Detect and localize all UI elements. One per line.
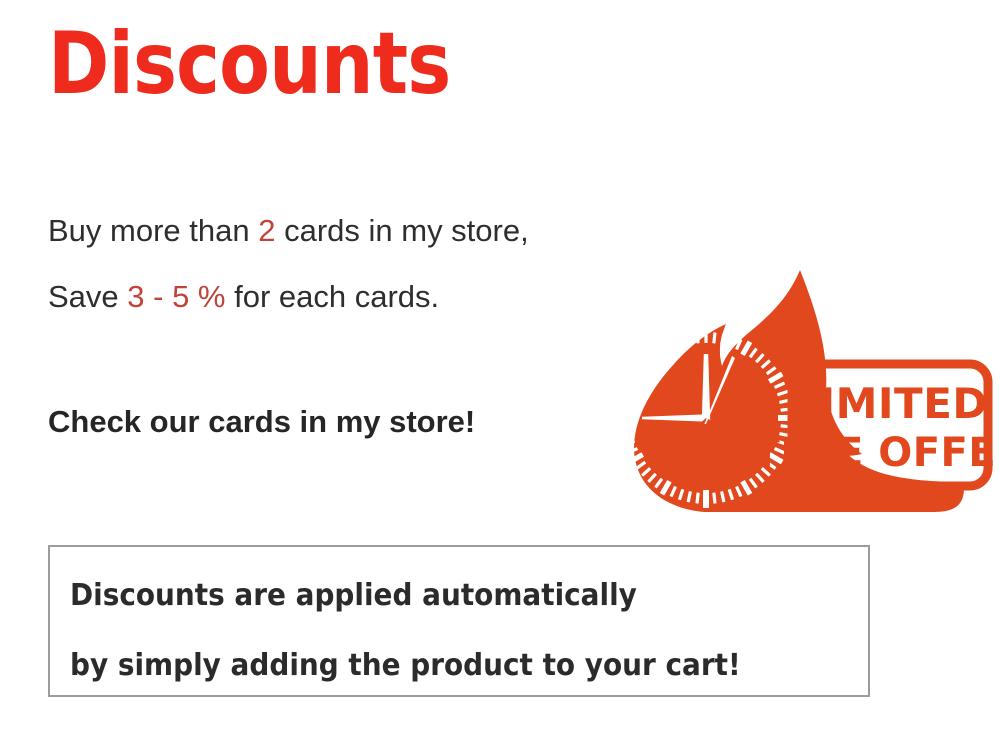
copy-line-1-before: Buy more than [48, 213, 258, 248]
badge-label-time-offer: TIME OFFER [753, 430, 997, 476]
auto-discount-note-text: Discounts are applied automatically by s… [70, 561, 858, 701]
promo-copy: Buy more than 2 cards in my store, Save … [48, 198, 668, 330]
promo-copy-line-1: Buy more than 2 cards in my store, [48, 198, 668, 264]
limited-time-offer-badge: LIMITED TIME OFFER [604, 268, 996, 514]
auto-discount-note-box: Discounts are applied automatically by s… [48, 545, 870, 697]
copy-line-1-accent: 2 [258, 213, 275, 248]
note-line-1: Discounts are applied automatically [70, 561, 803, 631]
copy-line-2-after: for each cards. [226, 279, 440, 314]
badge-label-limited: LIMITED [792, 379, 988, 428]
flame-clock-icon: LIMITED TIME OFFER [604, 268, 996, 514]
copy-line-2-before: Save [48, 279, 127, 314]
copy-line-2-accent: 3 - 5 % [127, 279, 225, 314]
note-line-2: by simply adding the product to your car… [70, 631, 803, 701]
page-title: Discounts [48, 16, 450, 112]
cta-text: Check our cards in my store! [48, 400, 475, 444]
promo-banner: Discounts Buy more than 2 cards in my st… [0, 0, 1000, 755]
promo-copy-line-2: Save 3 - 5 % for each cards. [48, 264, 668, 330]
copy-line-1-after: cards in my store, [275, 213, 528, 248]
